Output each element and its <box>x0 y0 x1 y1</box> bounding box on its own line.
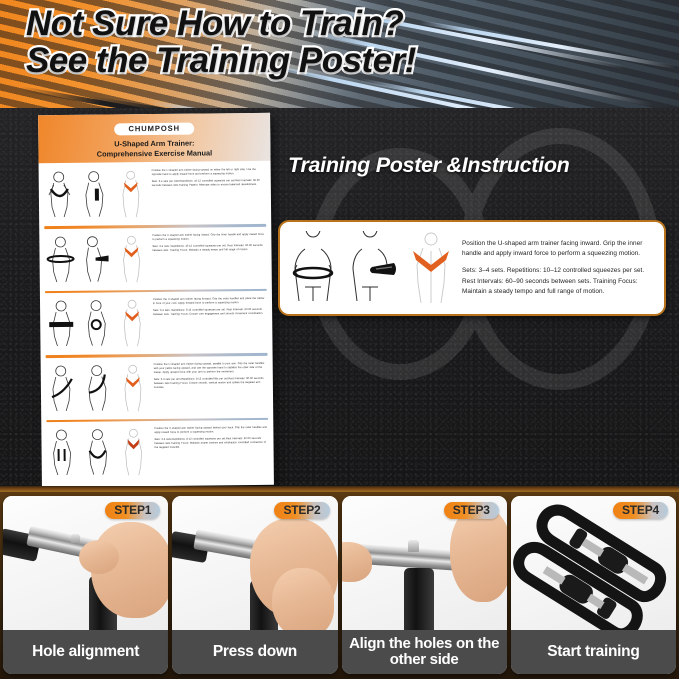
figure-icon <box>46 169 77 219</box>
figure-icon <box>83 426 114 476</box>
figure-icon <box>346 231 398 305</box>
product-infographic: Not Sure How to Train? See the Training … <box>0 0 679 679</box>
poster-row-text: Position the U-shaped arm trainer facing… <box>150 358 268 392</box>
callout-paragraph-1: Position the U-shaped arm trainer facing… <box>462 239 654 260</box>
poster-row: Position the U-shaped arm trainer facing… <box>46 421 269 483</box>
brand-badge: CHUMPOSH <box>114 122 194 135</box>
step-badge: STEP3 <box>444 502 499 519</box>
callout-paragraph-2: Sets: 3–4 sets. Repetitions: 10–12 contr… <box>462 266 654 297</box>
poster-row-stats: Sets: 3-4 sets. Repetitions: 10-12 contr… <box>152 243 266 252</box>
poster-row-stats: Sets: 3-4 sets per side.Repetitions: 10-… <box>152 179 266 188</box>
figure-icon <box>287 231 339 305</box>
figure-icon <box>83 362 114 412</box>
step-badge: STEP2 <box>274 502 329 519</box>
poster-row-figures <box>45 295 150 348</box>
arm-trainer-illustration <box>511 502 676 630</box>
muscle-map-icon <box>116 233 147 283</box>
step-card: STEP1 Hole alignment <box>3 496 168 674</box>
poster-header: CHUMPOSH U-Shaped Arm Trainer: Comprehen… <box>38 113 270 163</box>
figure-icon <box>81 168 112 218</box>
step-caption: Align the holes on the other side <box>346 636 503 669</box>
poster-row-desc: Position the U-shaped arm trainer facing… <box>154 426 268 435</box>
poster-rows: Position the U-shaped arm trainer facing… <box>39 161 274 487</box>
step-card: STEP4 St <box>511 496 676 674</box>
step-badge: STEP4 <box>613 502 668 519</box>
step-caption-bar: Hole alignment <box>3 630 168 674</box>
callout-text: Position the U-shaped arm trainer facing… <box>460 234 664 303</box>
step-caption-bar: Press down <box>172 630 337 674</box>
figure-icon <box>47 233 78 283</box>
figure-icon <box>47 298 78 348</box>
banner-headline: Not Sure How to Train? See the Training … <box>26 6 416 78</box>
step-card: STEP2 Press down <box>172 496 337 674</box>
poster-row: Position the U-shaped arm trainer facing… <box>46 356 269 418</box>
poster-row-text: Position the U-shaped arm trainer facing… <box>149 294 267 320</box>
poster-row-stats: Sets: 3-4 sets per arm.Repetitions: 8-12… <box>154 376 268 389</box>
poster-title: U-Shaped Arm Trainer: Comprehensive Exer… <box>38 138 270 160</box>
poster-row-text: Position the U-shaped arm trainer facing… <box>148 165 266 191</box>
poster-row-desc: Position the U-shaped arm trainer facing… <box>152 168 266 177</box>
step-photo: STEP3 <box>342 496 507 630</box>
step-photo: STEP4 <box>511 496 676 630</box>
step-photo: STEP1 <box>3 496 168 630</box>
poster-row: Position the U-shaped arm trainer facing… <box>45 292 268 354</box>
step-caption-bar: Start training <box>511 630 676 674</box>
muscle-map-icon <box>117 297 148 347</box>
poster-row-figures <box>44 166 149 219</box>
step-caption: Hole alignment <box>32 643 139 660</box>
poster-row-figures <box>46 360 151 413</box>
poster-row-stats: Sets: 3-4 sets.Repetitions: 8-12 control… <box>154 437 268 450</box>
banner-line-1: Not Sure How to Train? <box>26 6 416 42</box>
poster-row-desc: Position the U-shaped arm trainer facing… <box>152 232 266 241</box>
figure-icon <box>48 362 79 412</box>
muscle-map-icon <box>115 168 146 218</box>
header-banner: Not Sure How to Train? See the Training … <box>0 0 679 110</box>
banner-line-2: See the Training Poster! <box>26 43 416 79</box>
poster-row-desc: Position the U-shaped arm trainer facing… <box>154 361 268 374</box>
assembly-steps: STEP1 Hole alignment STEP2 <box>0 492 679 679</box>
figure-icon <box>81 233 112 283</box>
figure-icon <box>82 297 113 347</box>
poster-title-line-2: Comprehensive Exercise Manual <box>38 148 270 160</box>
poster-row-stats: Sets: 3-4 sets. Repetitions: 8-12 contro… <box>153 308 267 317</box>
poster-row: Position the U-shaped arm trainer facing… <box>44 227 267 289</box>
callout-figures <box>280 222 460 314</box>
step-badge: STEP1 <box>105 502 160 519</box>
poster-row-figures <box>46 424 151 477</box>
step-caption-bar: Align the holes on the other side <box>342 630 507 674</box>
poster-section: CHUMPOSH U-Shaped Arm Trainer: Comprehen… <box>0 108 679 488</box>
poster-row-desc: Position the U-shaped arm trainer facing… <box>153 297 267 306</box>
section-title: Training Poster &Instruction <box>288 153 569 178</box>
muscle-map-icon <box>405 231 457 305</box>
training-poster: CHUMPOSH U-Shaped Arm Trainer: Comprehen… <box>38 113 274 487</box>
step-caption: Press down <box>213 643 297 660</box>
step-caption: Start training <box>547 643 639 660</box>
instruction-callout: Position the U-shaped arm trainer facing… <box>278 220 666 316</box>
poster-row-figures <box>44 231 149 284</box>
step-photo: STEP2 <box>172 496 337 630</box>
poster-row-text: Position the U-shaped arm trainer facing… <box>150 423 268 453</box>
muscle-map-icon <box>118 426 149 476</box>
step-card: STEP3 Align the holes on the other side <box>342 496 507 674</box>
figure-icon <box>49 427 80 477</box>
poster-row-text: Position the U-shaped arm trainer facing… <box>148 229 266 255</box>
poster-row: Position the U-shaped arm trainer facing… <box>44 163 267 225</box>
muscle-map-icon <box>117 362 148 412</box>
